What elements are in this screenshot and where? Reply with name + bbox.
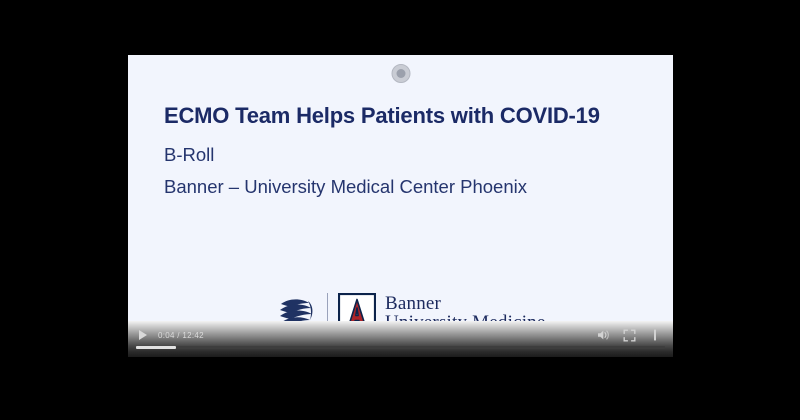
more-options-icon[interactable] xyxy=(647,327,663,343)
player-controls-row: 0:04 / 12:42 xyxy=(128,326,673,344)
progress-bar-fill xyxy=(136,346,176,349)
time-display: 0:04 / 12:42 xyxy=(158,331,204,340)
slide-subtitle: B-Roll xyxy=(164,144,214,166)
volume-icon[interactable] xyxy=(595,327,611,343)
play-icon xyxy=(139,330,147,340)
video-player[interactable]: ECMO Team Helps Patients with COVID-19 B… xyxy=(128,55,673,357)
slide-organization: Banner – University Medical Center Phoen… xyxy=(164,176,527,198)
logo-wordmark-line1: Banner xyxy=(385,294,546,313)
screen-root: ECMO Team Helps Patients with COVID-19 B… xyxy=(0,0,800,420)
loading-badge-glyph xyxy=(396,69,405,78)
loading-badge-icon xyxy=(391,64,410,83)
slide-heading: ECMO Team Helps Patients with COVID-19 xyxy=(164,103,600,129)
video-slide-frame: ECMO Team Helps Patients with COVID-19 B… xyxy=(128,55,673,357)
progress-bar-track[interactable] xyxy=(136,346,665,349)
player-control-bar[interactable]: 0:04 / 12:42 xyxy=(128,321,673,357)
play-button[interactable] xyxy=(136,328,150,342)
fullscreen-icon[interactable] xyxy=(621,327,637,343)
